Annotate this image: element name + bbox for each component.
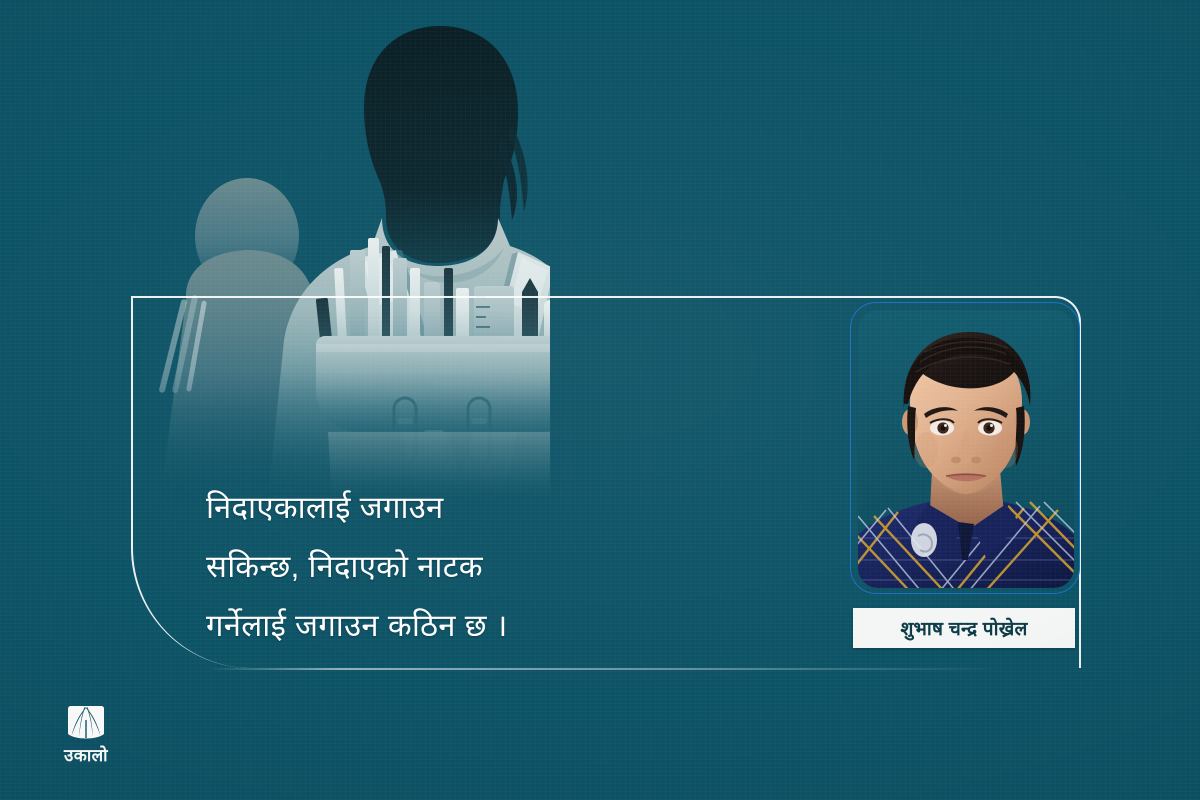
quote-line-3: गर्नेलाई जगाउन कठिन छ । [206, 596, 846, 655]
quote-card: निदाएकालाई जगाउन सकिन्छ, निदाएको नाटक गर… [0, 0, 1200, 800]
brand-name: उकालो [64, 747, 108, 764]
author-name: शुभाष चन्द्र पोख्रेल [900, 615, 1027, 641]
uphill-road-logo-mark [65, 703, 107, 743]
quote-text: निदाएकालाई जगाउन सकिन्छ, निदाएको नाटक गर… [206, 478, 846, 655]
student-with-backpack-silhouette [150, 0, 550, 500]
portrait-photo [858, 310, 1074, 588]
quote-line-1: निदाएकालाई जगाउन [206, 478, 846, 537]
attribution-nameplate: शुभाष चन्द्र पोख्रेल [853, 608, 1075, 648]
brand-logo[interactable]: उकालो [48, 703, 124, 769]
portrait-container [858, 310, 1074, 588]
quote-line-2: सकिन्छ, निदाएको नाटक [206, 537, 846, 596]
